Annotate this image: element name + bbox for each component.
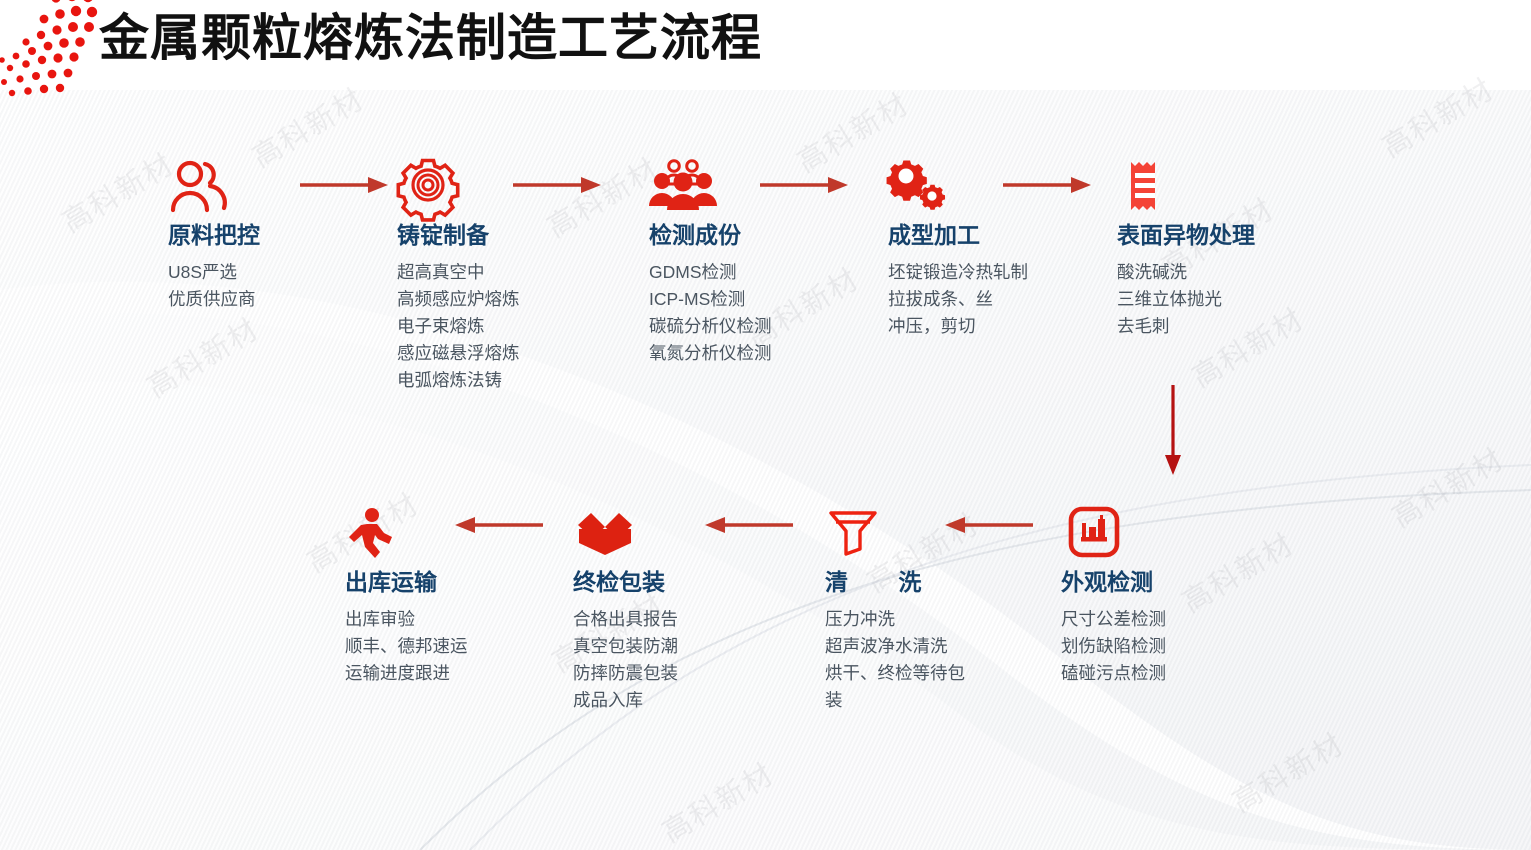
page-header: 金属颗粒熔炼法制造工艺流程 <box>0 0 1531 92</box>
step-detail-line: 拉拔成条、丝 <box>888 286 1028 313</box>
step-detail-line: 优质供应商 <box>168 286 260 313</box>
step-detail-list: 尺寸公差检测 划伤缺陷检测 磕碰污点检测 <box>1061 606 1166 687</box>
step-detail-line: 尺寸公差检测 <box>1061 606 1166 633</box>
step-detail-line: 顺丰、德邦速运 <box>345 633 468 660</box>
step-detail-line: 酸洗碱洗 <box>1117 259 1255 286</box>
process-flow-diagram: 原料把控 U8S严选 优质供应商 铸锭制备 超高真空中 高频感应炉熔炼 电子束熔… <box>0 0 1531 850</box>
step-title: 成型加工 <box>888 220 1028 250</box>
step-detail-list: 合格出具报告 真空包装防潮 防摔防震包装 成品入库 <box>573 606 678 714</box>
step-title: 铸锭制备 <box>397 220 520 250</box>
step-detail-line: ICP-MS检测 <box>649 286 772 313</box>
step-title: 清 洗 <box>825 567 980 597</box>
step-detail-list: 坯锭锻造冷热轧制 拉拔成条、丝 冲压，剪切 <box>888 259 1028 340</box>
step-title: 外观检测 <box>1061 567 1166 597</box>
flow-step-3[interactable]: 检测成份 GDMS检测 ICP-MS检测 碳硫分析仪检测 氧氮分析仪检测 <box>649 158 772 367</box>
step-detail-line: 合格出具报告 <box>573 606 678 633</box>
factory-badge-icon <box>1061 505 1117 561</box>
step-detail-line: 氧氮分析仪检测 <box>649 340 772 367</box>
two-gears-icon <box>888 158 954 214</box>
step-detail-line: 出库审验 <box>345 606 468 633</box>
step-detail-list: 压力冲洗 超声波净水清洗 烘干、终检等待包装 <box>825 606 980 714</box>
arrow-step7-to-step8 <box>705 515 793 535</box>
step-detail-line: 划伤缺陷检测 <box>1061 633 1166 660</box>
people-group-icon <box>649 158 717 214</box>
step-detail-line: 真空包装防潮 <box>573 633 678 660</box>
step-title: 出库运输 <box>345 567 468 597</box>
flow-step-6[interactable]: 外观检测 尺寸公差检测 划伤缺陷检测 磕碰污点检测 <box>1061 505 1166 687</box>
receipt-icon <box>1117 158 1173 214</box>
step-detail-list: U8S严选 优质供应商 <box>168 259 260 313</box>
page-title: 金属颗粒熔炼法制造工艺流程 <box>99 6 762 70</box>
flow-step-2[interactable]: 铸锭制备 超高真空中 高频感应炉熔炼 电子束熔炼 感应磁悬浮熔炼 电弧熔炼法铸 <box>397 158 520 394</box>
step-title: 终检包装 <box>573 567 678 597</box>
flow-step-5[interactable]: 表面异物处理 酸洗碱洗 三维立体抛光 去毛刺 <box>1117 158 1255 340</box>
open-box-icon <box>573 505 637 561</box>
arrow-step1-to-step2 <box>300 175 388 195</box>
two-people-outline-icon <box>168 158 230 214</box>
arrow-step8-to-step9 <box>455 515 543 535</box>
step-detail-line: 坯锭锻造冷热轧制 <box>888 259 1028 286</box>
step-detail-line: GDMS检测 <box>649 259 772 286</box>
flow-step-8[interactable]: 终检包装 合格出具报告 真空包装防潮 防摔防震包装 成品入库 <box>573 505 678 714</box>
step-detail-line: 感应磁悬浮熔炼 <box>397 340 520 367</box>
step-detail-line: 防摔防震包装 <box>573 660 678 687</box>
flow-step-9[interactable]: 出库运输 出库审验 顺丰、德邦速运 运输进度跟进 <box>345 505 468 687</box>
arrow-step2-to-step3 <box>513 175 601 195</box>
step-detail-list: 超高真空中 高频感应炉熔炼 电子束熔炼 感应磁悬浮熔炼 电弧熔炼法铸 <box>397 259 520 394</box>
step-detail-line: 去毛刺 <box>1117 313 1255 340</box>
step-detail-list: 出库审验 顺丰、德邦速运 运输进度跟进 <box>345 606 468 687</box>
arrow-step3-to-step4 <box>760 175 848 195</box>
step-title: 原料把控 <box>168 220 260 250</box>
gear-target-icon <box>397 158 459 214</box>
funnel-icon <box>825 505 881 561</box>
step-detail-line: 电子束熔炼 <box>397 313 520 340</box>
step-detail-list: 酸洗碱洗 三维立体抛光 去毛刺 <box>1117 259 1255 340</box>
flow-step-7[interactable]: 清 洗 压力冲洗 超声波净水清洗 烘干、终检等待包装 <box>825 505 980 714</box>
step-title: 检测成份 <box>649 220 772 250</box>
step-detail-line: 压力冲洗 <box>825 606 980 633</box>
step-detail-line: U8S严选 <box>168 259 260 286</box>
step-detail-list: GDMS检测 ICP-MS检测 碳硫分析仪检测 氧氮分析仪检测 <box>649 259 772 367</box>
step-detail-line: 运输进度跟进 <box>345 660 468 687</box>
arrow-step4-to-step5 <box>1003 175 1091 195</box>
step-detail-line: 碳硫分析仪检测 <box>649 313 772 340</box>
step-detail-line: 超高真空中 <box>397 259 520 286</box>
step-detail-line: 成品入库 <box>573 687 678 714</box>
step-detail-line: 高频感应炉熔炼 <box>397 286 520 313</box>
step-detail-line: 烘干、终检等待包装 <box>825 660 980 714</box>
step-detail-line: 磕碰污点检测 <box>1061 660 1166 687</box>
arrow-step5-to-step6 <box>1162 385 1184 475</box>
step-title: 表面异物处理 <box>1117 220 1255 250</box>
step-detail-line: 三维立体抛光 <box>1117 286 1255 313</box>
walking-person-icon <box>345 505 399 561</box>
step-detail-line: 电弧熔炼法铸 <box>397 367 520 394</box>
flow-step-1[interactable]: 原料把控 U8S严选 优质供应商 <box>168 158 260 313</box>
step-detail-line: 冲压，剪切 <box>888 313 1028 340</box>
step-detail-line: 超声波净水清洗 <box>825 633 980 660</box>
